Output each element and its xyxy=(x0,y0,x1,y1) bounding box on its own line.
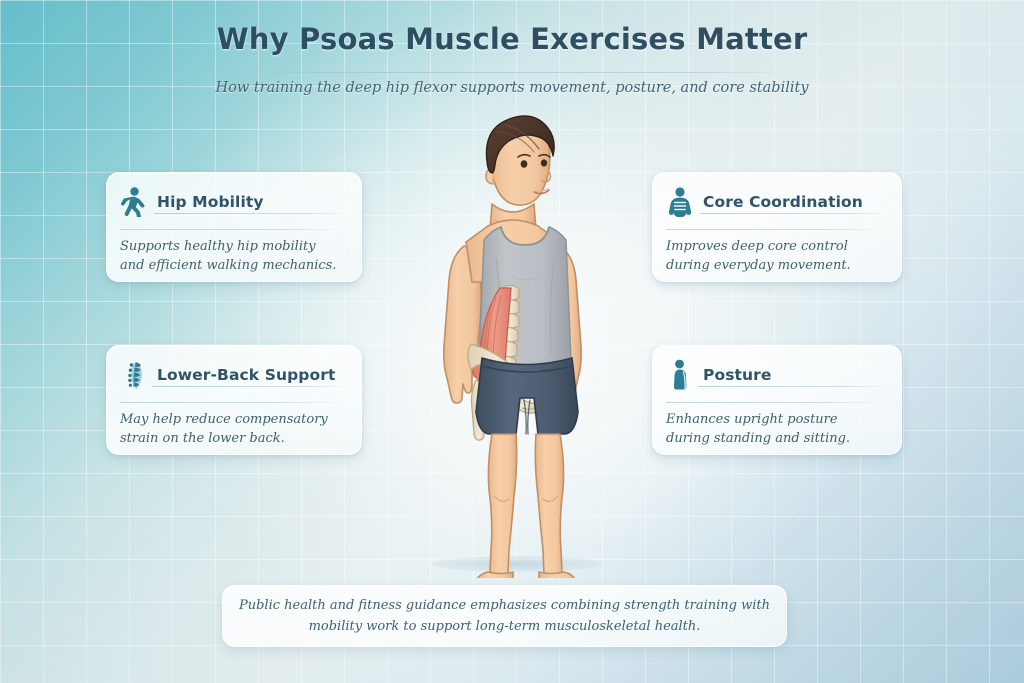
card-body-line-1: Improves deep core control xyxy=(666,238,885,257)
card-divider xyxy=(666,229,885,230)
infographic-root: Why Psoas Muscle Exercises Matter How tr… xyxy=(0,0,1024,683)
card-body: Supports healthy hip mobility and effici… xyxy=(120,238,345,276)
card-body-line-1: Enhances upright posture xyxy=(666,411,885,430)
card-divider xyxy=(120,402,345,403)
spine-icon xyxy=(120,359,148,391)
card-body-line-2: during everyday movement. xyxy=(666,257,885,276)
card-divider xyxy=(666,402,885,403)
footer-line-2: mobility work to support long-term muscu… xyxy=(309,616,701,637)
card-title: Lower-Back Support xyxy=(157,366,336,384)
card-body: May help reduce compensatory strain on t… xyxy=(120,411,345,449)
card-header: Hip Mobility xyxy=(120,184,345,220)
card-header: Core Coordination xyxy=(666,184,885,220)
footer-note-banner: Public health and fitness guidance empha… xyxy=(222,585,787,647)
card-header: Posture xyxy=(666,357,885,393)
card-body: Improves deep core control during everyd… xyxy=(666,238,885,276)
card-divider xyxy=(120,229,345,230)
title-divider xyxy=(235,72,789,73)
standing-person-anatomy-illustration xyxy=(388,108,638,578)
card-body-line-2: and efficient walking mechanics. xyxy=(120,257,345,276)
card-core-coordination[interactable]: Core Coordination Improves deep core con… xyxy=(652,172,902,282)
card-body-line-2: during standing and sitting. xyxy=(666,430,885,449)
card-title-underline xyxy=(152,386,347,387)
card-body-line-1: Supports healthy hip mobility xyxy=(120,238,345,257)
card-title-underline xyxy=(154,213,347,214)
card-body-line-2: strain on the lower back. xyxy=(120,430,345,449)
footer-line-1: Public health and fitness guidance empha… xyxy=(239,595,770,616)
card-posture[interactable]: Posture Enhances upright posture during … xyxy=(652,345,902,455)
card-title-underline xyxy=(700,213,887,214)
page-title: Why Psoas Muscle Exercises Matter xyxy=(0,22,1024,56)
card-header: Lower-Back Support xyxy=(120,357,345,393)
standing-person-icon xyxy=(666,359,694,391)
card-body-line-1: May help reduce compensatory xyxy=(120,411,345,430)
card-body: Enhances upright posture during standing… xyxy=(666,411,885,449)
card-hip-mobility[interactable]: Hip Mobility Supports healthy hip mobili… xyxy=(106,172,362,282)
card-lower-back-support[interactable]: Lower-Back Support May help reduce compe… xyxy=(106,345,362,455)
page-subtitle: How training the deep hip flexor support… xyxy=(0,80,1024,96)
card-title: Posture xyxy=(703,366,772,384)
walking-person-icon xyxy=(120,186,148,218)
card-title-underline xyxy=(698,386,887,387)
core-torso-icon xyxy=(666,186,694,218)
card-title: Hip Mobility xyxy=(157,193,264,211)
card-title: Core Coordination xyxy=(703,193,863,211)
